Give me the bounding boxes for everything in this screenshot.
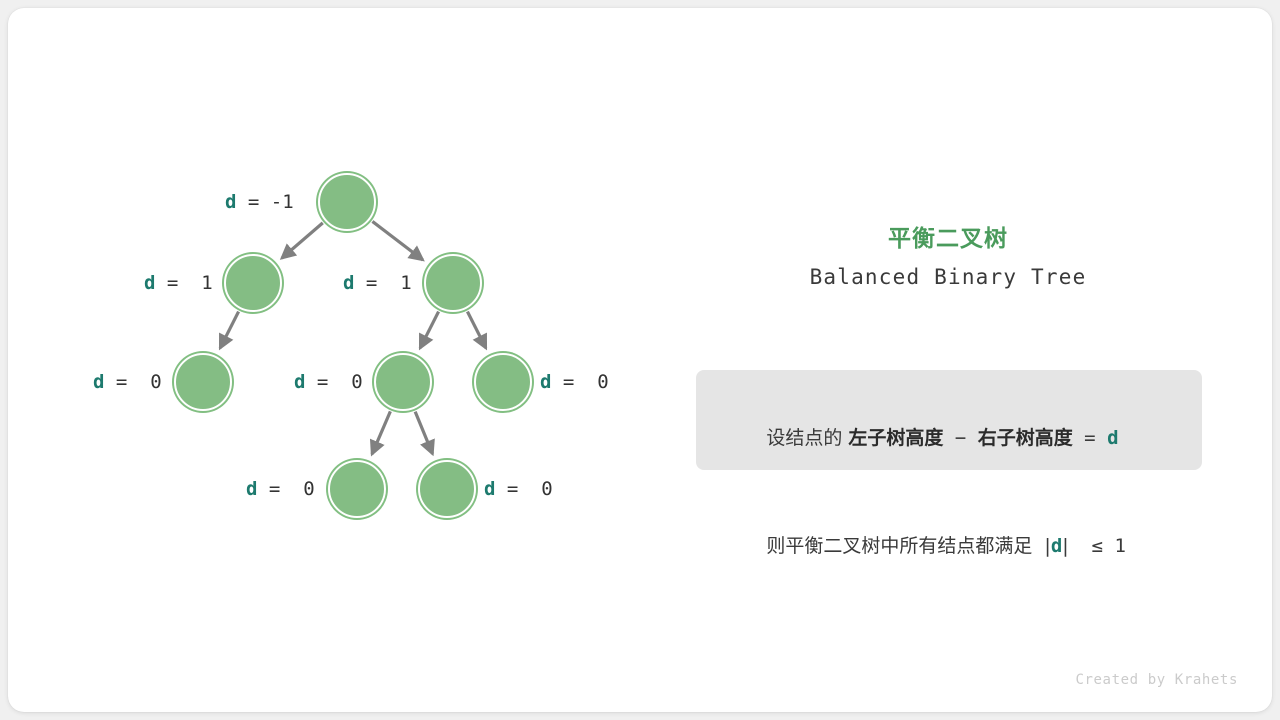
tree-node[interactable] bbox=[328, 460, 386, 518]
tree-node[interactable] bbox=[424, 254, 482, 312]
balance-value: = 0 bbox=[551, 371, 608, 393]
definition-box: 设结点的 左子树高度 − 右子树高度 = d 则平衡二叉树中所有结点都满足 |d… bbox=[696, 370, 1202, 470]
minus-operator: − bbox=[943, 427, 977, 449]
balance-value: = 0 bbox=[305, 371, 362, 393]
balance-value: = 1 bbox=[155, 272, 212, 294]
definition-line-1: 设结点的 左子树高度 − 右子树高度 = d bbox=[696, 384, 1202, 492]
page-subtitle: Balanced Binary Tree bbox=[656, 262, 1240, 292]
node-balance-factor-label: d = 0 bbox=[540, 371, 609, 393]
balance-variable: d bbox=[484, 478, 495, 500]
balance-value: = 0 bbox=[104, 371, 161, 393]
balance-variable: d bbox=[343, 272, 354, 294]
term-right-subtree-height: 右子树高度 bbox=[978, 427, 1073, 449]
balance-variable: d bbox=[225, 191, 236, 213]
tree-node[interactable] bbox=[374, 353, 432, 411]
node-balance-factor-label: d = 0 bbox=[484, 478, 553, 500]
definition-prefix: 设结点的 bbox=[766, 427, 848, 449]
diagram-canvas: d = -1d = 1d = 1d = 0d = 0d = 0d = 0d = … bbox=[0, 0, 1280, 720]
watermark: Created by Krahets bbox=[1075, 672, 1238, 688]
tree-node[interactable] bbox=[474, 353, 532, 411]
balance-variable: d bbox=[294, 371, 305, 393]
balance-value: = -1 bbox=[236, 191, 293, 213]
term-left-subtree-height: 左子树高度 bbox=[848, 427, 943, 449]
equals-operator: = bbox=[1073, 427, 1107, 449]
tree-node[interactable] bbox=[174, 353, 232, 411]
balance-value: = 0 bbox=[495, 478, 552, 500]
node-balance-factor-label: d = 0 bbox=[93, 371, 162, 393]
node-balance-factor-label: d = 0 bbox=[246, 478, 315, 500]
variable-d: d bbox=[1051, 535, 1062, 557]
node-balance-factor-label: d = -1 bbox=[225, 191, 294, 213]
relation-le-one: ≤ 1 bbox=[1069, 535, 1126, 557]
balance-variable: d bbox=[144, 272, 155, 294]
tree-node[interactable] bbox=[318, 173, 376, 231]
balance-value: = 1 bbox=[354, 272, 411, 294]
balance-variable: d bbox=[93, 371, 104, 393]
tree-node[interactable] bbox=[224, 254, 282, 312]
node-balance-factor-label: d = 1 bbox=[144, 272, 213, 294]
variable-d: d bbox=[1107, 427, 1118, 449]
page-title: 平衡二叉树 bbox=[656, 224, 1240, 254]
condition-prefix: 则平衡二叉树中所有结点都满足 bbox=[766, 535, 1044, 557]
balance-variable: d bbox=[246, 478, 257, 500]
definition-line-2: 则平衡二叉树中所有结点都满足 |d| ≤ 1 bbox=[696, 492, 1202, 600]
node-balance-factor-label: d = 0 bbox=[294, 371, 363, 393]
tree-node[interactable] bbox=[418, 460, 476, 518]
info-panel: 平衡二叉树 Balanced Binary Tree 设结点的 左子树高度 − … bbox=[656, 224, 1240, 292]
balance-value: = 0 bbox=[257, 478, 314, 500]
balance-variable: d bbox=[540, 371, 551, 393]
node-balance-factor-label: d = 1 bbox=[343, 272, 412, 294]
